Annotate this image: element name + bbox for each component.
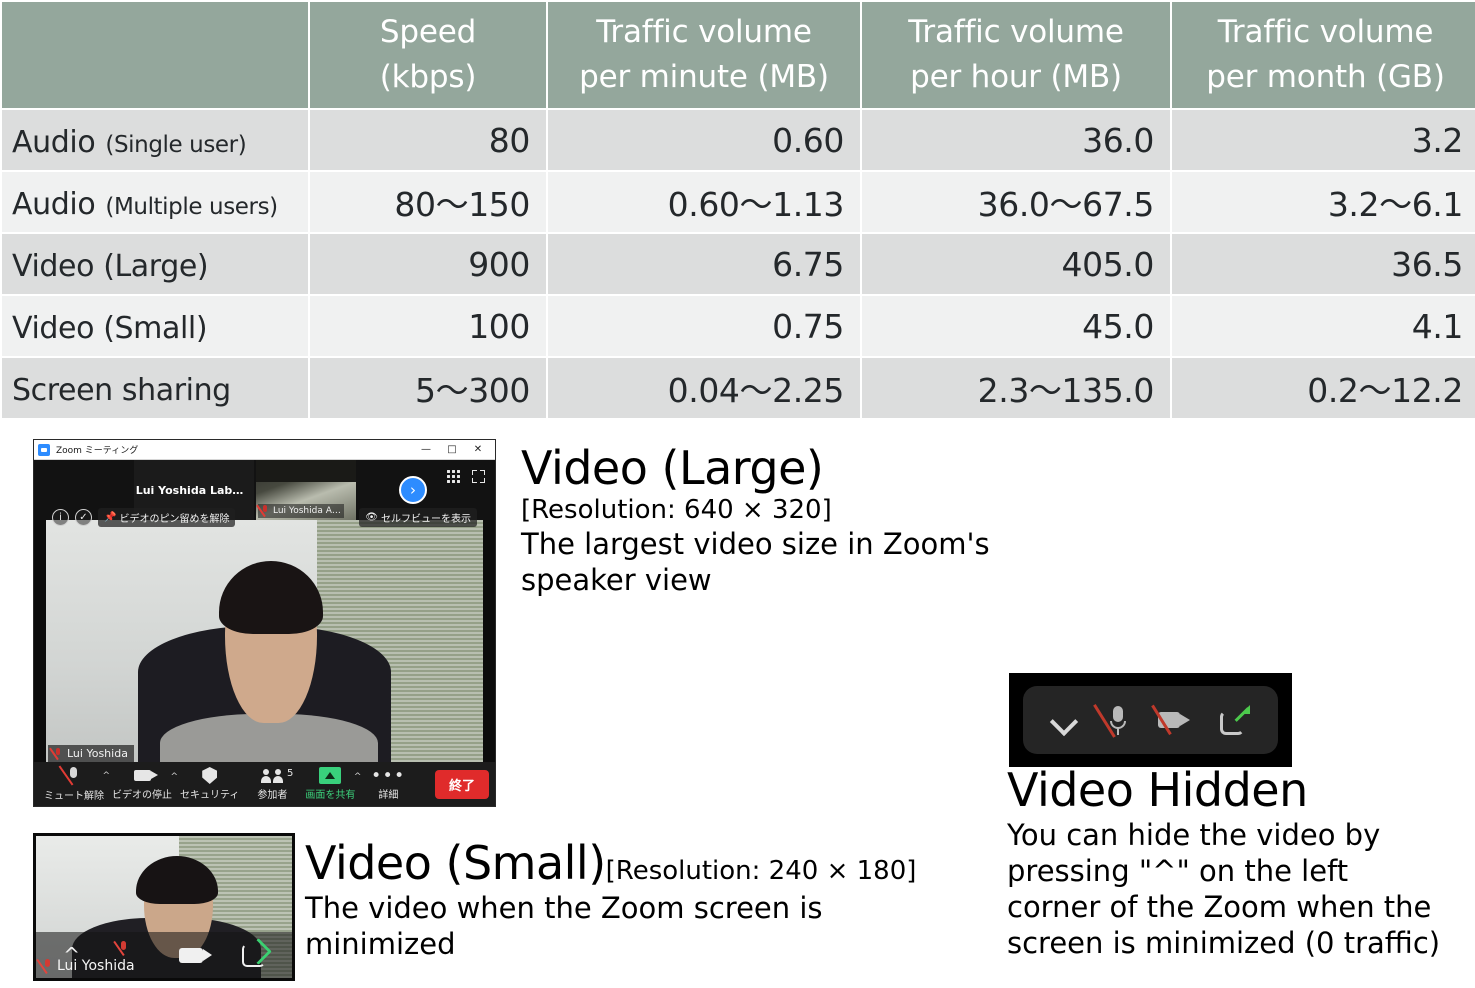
- row-label-main: Video (Small): [12, 311, 207, 346]
- small-video-name-label: Lui Yoshida: [57, 958, 135, 974]
- eye-icon: 👁: [365, 512, 378, 523]
- header-hour-line2: per hour (MB): [868, 55, 1164, 100]
- caption-small-title-row: Video (Small) [Resolution: 240 × 180]: [305, 838, 975, 890]
- share-screen-icon[interactable]: [242, 944, 265, 967]
- mic-muted-icon[interactable]: [1105, 704, 1131, 736]
- show-selfview-label: セルフビューを表示: [381, 510, 471, 525]
- hidden-video-toolbar-frame: [1009, 673, 1292, 767]
- mic-muted-icon: [54, 748, 63, 760]
- share-screen-button[interactable]: ^ 画面を共有: [301, 767, 359, 801]
- table-row: Video (Small)1000.7545.04.1: [2, 296, 1475, 356]
- bandwidth-table: Speed (kbps) Traffic volume per minute (…: [0, 0, 1475, 420]
- participant-primary-name: Lui Yoshida Lab…: [136, 484, 244, 497]
- cell-per-month: 4.1: [1172, 296, 1475, 356]
- window-title-text: Zoom ミーティング: [56, 443, 413, 456]
- share-screen-label: 画面を共有: [305, 786, 355, 801]
- cell-per-minute: 0.60〜1.13: [548, 172, 860, 232]
- cell-per-minute: 0.60: [548, 110, 860, 170]
- caption-video-small: Video (Small) [Resolution: 240 × 180] Th…: [305, 838, 975, 962]
- table-row: Audio (Multiple users)80〜1500.60〜1.1336.…: [2, 172, 1475, 232]
- unmute-label: ミュート解除: [44, 787, 104, 802]
- table-body: Audio (Single user)800.6036.03.2Audio (M…: [2, 110, 1475, 418]
- camera-icon: [134, 767, 151, 784]
- table-row: Video (Large)9006.75405.036.5: [2, 234, 1475, 294]
- row-label-main: Audio: [12, 125, 95, 160]
- cell-speed: 900: [310, 234, 546, 294]
- people-icon: 5: [261, 767, 283, 784]
- caption-large-title: Video (Large): [521, 443, 1081, 495]
- cell-per-minute: 0.04〜2.25: [548, 358, 860, 418]
- header-month-line1: Traffic volume: [1178, 10, 1473, 55]
- check-icon[interactable]: ✓: [75, 509, 92, 526]
- close-icon[interactable]: ✕: [465, 441, 491, 459]
- mic-muted-icon: [42, 959, 53, 974]
- unpin-video-button[interactable]: 📌 ビデオのピン留めを解除: [98, 508, 235, 527]
- row-label: Video (Large): [2, 234, 308, 294]
- more-button[interactable]: ••• 詳細: [359, 767, 417, 801]
- caption-hidden-body-line1: You can hide the video by: [1007, 817, 1475, 853]
- table-header-row: Speed (kbps) Traffic volume per minute (…: [2, 2, 1475, 108]
- header-blank: [2, 2, 308, 108]
- caption-small-body-line2: minimized: [305, 926, 975, 962]
- cell-speed: 5〜300: [310, 358, 546, 418]
- row-label: Screen sharing: [2, 358, 308, 418]
- cell-per-month: 0.2〜12.2: [1172, 358, 1475, 418]
- row-label: Audio (Multiple users): [2, 172, 308, 232]
- security-label: セキュリティ: [180, 786, 239, 801]
- caption-video-large: Video (Large) [Resolution: 640 × 320] Th…: [521, 443, 1081, 599]
- pin-icon: 📌: [104, 512, 116, 523]
- page-root: Speed (kbps) Traffic volume per minute (…: [0, 0, 1475, 988]
- header-min-line1: Traffic volume: [554, 10, 854, 55]
- cell-per-month: 3.2: [1172, 110, 1475, 170]
- speaker-video-stage: [46, 520, 483, 762]
- participants-count: 5: [287, 768, 293, 779]
- small-video-name-tag: Lui Yoshida: [42, 958, 135, 974]
- hidden-video-toolbar: [1023, 686, 1278, 754]
- caption-hidden-body-line2: pressing "^" on the left: [1007, 853, 1475, 889]
- table-row: Audio (Single user)800.6036.03.2: [2, 110, 1475, 170]
- caption-small-resolution: [Resolution: 240 × 180]: [606, 856, 917, 888]
- minimize-icon[interactable]: —: [413, 441, 439, 459]
- row-label-main: Audio: [12, 187, 95, 222]
- caption-small-body-line1: The video when the Zoom screen is: [305, 890, 975, 926]
- speaker-name-label: Lui Yoshida: [67, 747, 128, 760]
- share-screen-icon: [319, 767, 341, 784]
- mic-muted-icon: [66, 766, 82, 785]
- cell-per-month: 36.5: [1172, 234, 1475, 294]
- caption-video-hidden: Video Hidden You can hide the video by p…: [1007, 765, 1475, 962]
- header-traffic-per-month: Traffic volume per month (GB): [1172, 2, 1475, 108]
- camera-icon[interactable]: [179, 948, 203, 963]
- unmute-button[interactable]: ^ ミュート解除: [40, 766, 108, 802]
- row-label-main: Video (Large): [12, 249, 208, 284]
- table-row: Screen sharing5〜3000.04〜2.252.3〜135.00.2…: [2, 358, 1475, 418]
- table-head: Speed (kbps) Traffic volume per minute (…: [2, 2, 1475, 108]
- cell-speed: 80〜150: [310, 172, 546, 232]
- speaker-name-tag: Lui Yoshida: [48, 745, 134, 762]
- window-controls: — □ ✕: [413, 441, 491, 459]
- cell-per-hour: 36.0〜67.5: [862, 172, 1170, 232]
- header-traffic-per-hour: Traffic volume per hour (MB): [862, 2, 1170, 108]
- security-button[interactable]: セキュリティ: [176, 767, 243, 801]
- row-label-sub: (Multiple users): [105, 194, 277, 220]
- caption-hidden-title: Video Hidden: [1007, 765, 1475, 817]
- zoom-meeting-window: Zoom ミーティング — □ ✕ Lui Yoshida Lab… Lui Y…: [33, 439, 496, 807]
- end-meeting-button[interactable]: 終了: [435, 770, 489, 799]
- maximize-icon[interactable]: □: [439, 441, 465, 459]
- participants-label: 参加者: [257, 786, 287, 801]
- grid-view-icon[interactable]: [447, 470, 460, 483]
- next-page-arrow-icon[interactable]: ›: [399, 476, 427, 504]
- header-speed: Speed (kbps): [310, 2, 546, 108]
- header-speed-line1: Speed: [316, 10, 540, 55]
- header-min-line2: per minute (MB): [554, 55, 854, 100]
- shield-icon: [202, 767, 217, 784]
- participants-button[interactable]: 5 参加者: [243, 767, 301, 801]
- header-speed-line2: (kbps): [316, 55, 540, 100]
- caption-hidden-body-line3: corner of the Zoom when the: [1007, 889, 1475, 925]
- minimized-zoom-video[interactable]: ^ Lui Yoshida: [33, 833, 295, 981]
- stop-video-button[interactable]: ^ ビデオの停止: [108, 767, 176, 801]
- video-overlay-controls: i ✓ 📌 ビデオのピン留めを解除 👁 セルフビューを表示: [46, 506, 483, 528]
- camera-off-icon[interactable]: [1158, 707, 1192, 733]
- fullscreen-icon[interactable]: [472, 470, 485, 483]
- caption-large-resolution: [Resolution: 640 × 320]: [521, 495, 1081, 527]
- unpin-video-label: ビデオのピン留めを解除: [119, 510, 229, 525]
- caption-large-body-line1: The largest video size in Zoom's: [521, 526, 1081, 562]
- more-label: 詳細: [378, 786, 398, 801]
- row-label: Video (Small): [2, 296, 308, 356]
- row-label-main: Screen sharing: [12, 373, 231, 408]
- row-label: Audio (Single user): [2, 110, 308, 170]
- header-month-line2: per month (GB): [1178, 55, 1473, 100]
- row-label-sub: (Single user): [105, 132, 246, 158]
- header-hour-line1: Traffic volume: [868, 10, 1164, 55]
- cell-per-minute: 0.75: [548, 296, 860, 356]
- cell-per-hour: 36.0: [862, 110, 1170, 170]
- stop-video-label: ビデオの停止: [112, 786, 172, 801]
- zoom-logo-icon: [38, 444, 50, 456]
- share-screen-icon[interactable]: [1220, 705, 1250, 735]
- info-icon[interactable]: i: [52, 509, 69, 526]
- caption-large-body-line2: speaker view: [521, 562, 1081, 598]
- meeting-toolbar: ^ ミュート解除 ^ ビデオの停止 セキュリティ 5 参加者: [34, 762, 495, 806]
- caption-hidden-body-line4: screen is minimized (0 traffic): [1007, 925, 1475, 961]
- show-selfview-button[interactable]: 👁 セルフビューを表示: [359, 508, 477, 527]
- chevron-down-icon[interactable]: [1051, 707, 1077, 733]
- cell-per-hour: 45.0: [862, 296, 1170, 356]
- cell-per-month: 3.2〜6.1: [1172, 172, 1475, 232]
- caption-small-title: Video (Small): [305, 838, 606, 890]
- cell-per-hour: 2.3〜135.0: [862, 358, 1170, 418]
- cell-speed: 80: [310, 110, 546, 170]
- cell-per-minute: 6.75: [548, 234, 860, 294]
- cell-speed: 100: [310, 296, 546, 356]
- window-title-bar: Zoom ミーティング — □ ✕: [34, 440, 495, 460]
- view-controls: [447, 470, 485, 483]
- cell-per-hour: 405.0: [862, 234, 1170, 294]
- ellipsis-icon: •••: [371, 767, 406, 784]
- header-traffic-per-minute: Traffic volume per minute (MB): [548, 2, 860, 108]
